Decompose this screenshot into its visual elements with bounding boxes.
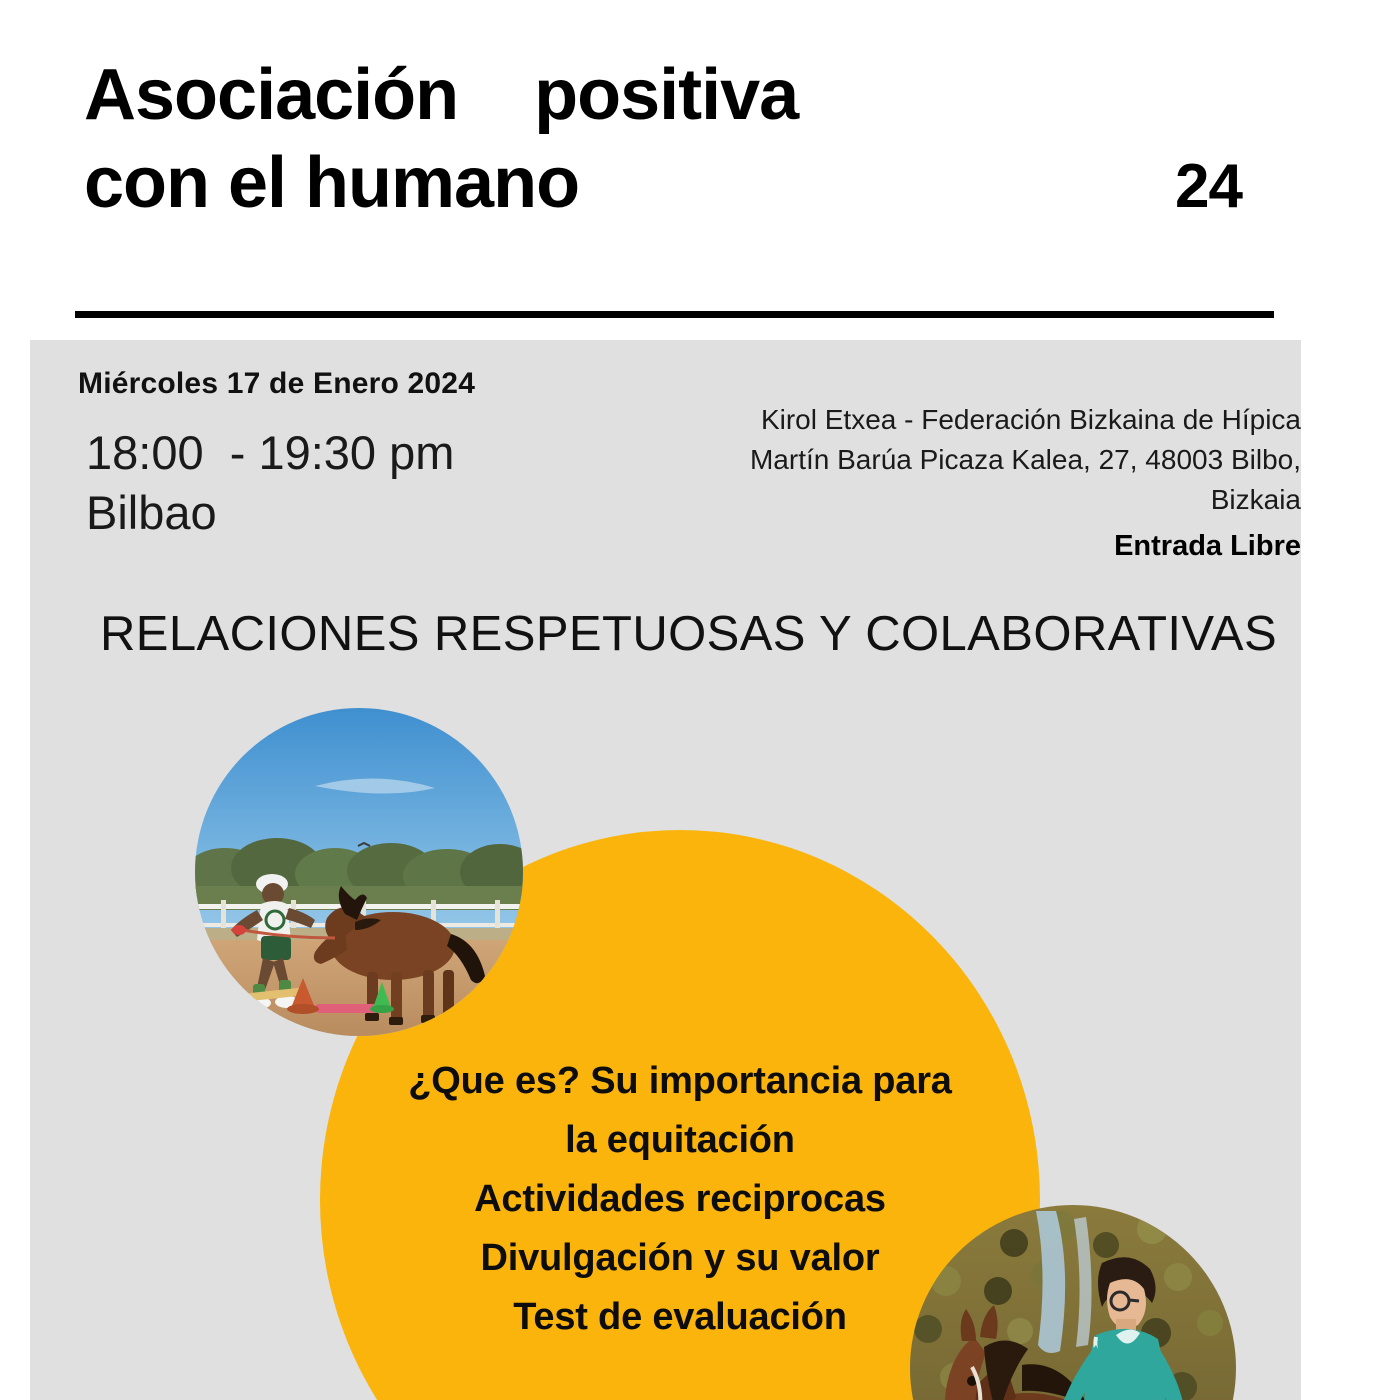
poster-title-row-2: con el humano 24: [84, 140, 1264, 228]
header-divider-rule: [75, 311, 1274, 318]
year-badge: 24: [1175, 156, 1264, 218]
venue-block: Kirol Etxea - Federación Bizkaina de Híp…: [701, 400, 1301, 569]
poster-title-line-1: Asociación positiva: [84, 52, 1284, 140]
agenda-item: la equitación: [330, 1111, 1030, 1170]
admission-badge: Entrada Libre: [701, 525, 1301, 569]
agenda-item: Actividades reciprocas: [330, 1170, 1030, 1229]
event-time: 18:00 - 19:30 pm: [78, 423, 698, 483]
schedule-block: Miércoles 17 de Enero 2024 18:00 - 19:30…: [78, 367, 698, 543]
poster-title-block: Asociación positiva con el humano 24: [84, 52, 1284, 228]
venue-street: Martín Barúa Picaza Kalea, 27, 48003 Bil…: [701, 440, 1301, 480]
venue-province: Bizkaia: [701, 480, 1301, 520]
photo-horse-leading-image: [195, 708, 523, 1036]
poster-title-line-2: con el humano: [84, 140, 579, 228]
event-date: Miércoles 17 de Enero 2024: [78, 367, 698, 401]
agenda-item: Divulgación y su valor: [330, 1229, 1030, 1288]
photo-horse-leading: [195, 708, 523, 1036]
event-city: Bilbao: [78, 483, 698, 543]
agenda-item: ¿Que es? Su importancia para: [330, 1052, 1030, 1111]
page-title: RELACIONES RESPETUOSAS Y COLABORATIVAS: [100, 606, 1300, 662]
venue-name: Kirol Etxea - Federación Bizkaina de Híp…: [701, 400, 1301, 440]
poster-canvas: Asociación positiva con el humano 24 Mié…: [0, 0, 1400, 1400]
